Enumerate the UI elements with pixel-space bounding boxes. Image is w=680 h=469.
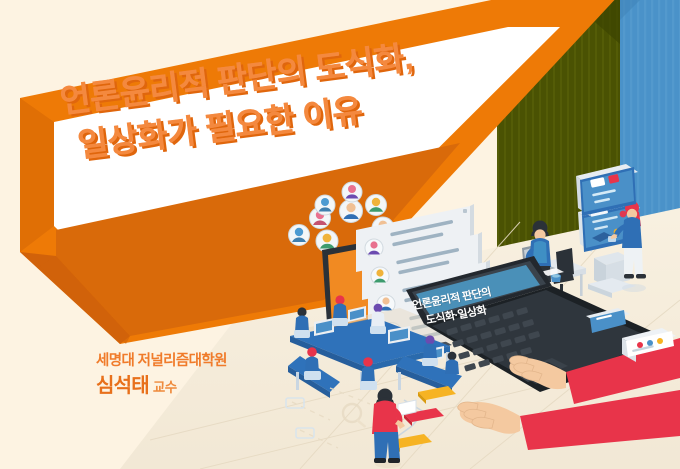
poster-canvas: 언론윤리적 판단의 도식화, 일상화가 필요한 이유 세명대 저널리즘대학원 심… [0,0,680,469]
coffee-cup-icon [551,274,561,282]
poster-background [0,0,680,469]
